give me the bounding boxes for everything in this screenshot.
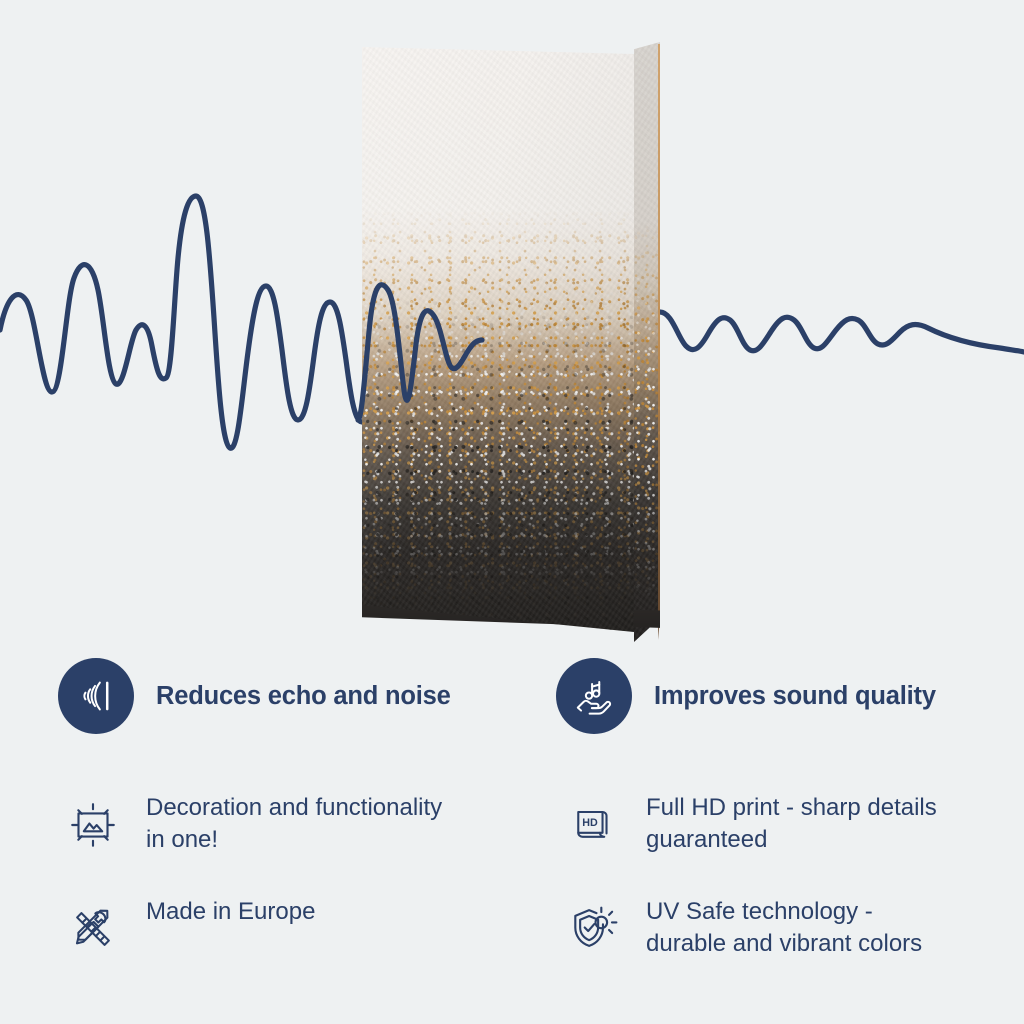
feature-label: Reduces echo and noise <box>156 681 451 712</box>
feature-reduces-echo: Reduces echo and noise <box>58 658 451 734</box>
sound-waves-wall-icon <box>58 658 134 734</box>
feature-text-line: in one! <box>146 824 442 856</box>
hand-music-note-icon <box>556 658 632 734</box>
soundwave-path-right <box>660 312 1024 352</box>
feature-full-hd-print: HD Full HD print - sharp details guarant… <box>562 792 937 856</box>
canvas-side-texture <box>634 42 660 642</box>
canvas-silver-speckle <box>362 47 634 632</box>
feature-text-line: guaranteed <box>646 824 937 856</box>
feature-label: Improves sound quality <box>654 681 936 712</box>
feature-text-line: Decoration and functionality <box>146 792 442 824</box>
framed-picture-shine-icon <box>62 794 124 856</box>
feature-text-line: durable and vibrant colors <box>646 928 922 960</box>
canvas-edge-accent-line <box>658 44 660 640</box>
canvas-sheen <box>362 47 634 632</box>
feature-uv-safe-technology: UV Safe technology - durable and vibrant… <box>562 896 922 960</box>
feature-text: Full HD print - sharp details guaranteed <box>646 792 937 855</box>
feature-decoration-functionality: Decoration and functionality in one! <box>62 792 442 856</box>
canvas-gold-speckle <box>362 47 634 632</box>
feature-made-in-europe: Made in Europe <box>62 896 315 960</box>
ruler-hammer-icon <box>62 898 124 960</box>
uv-shield-sun-icon <box>562 898 624 960</box>
feature-text-line: Made in Europe <box>146 896 315 928</box>
feature-text-line: Full HD print - sharp details <box>646 792 937 824</box>
canvas-side-silver-speckle <box>634 42 660 642</box>
feature-text: UV Safe technology - durable and vibrant… <box>646 896 922 959</box>
canvas-side-edge <box>634 42 660 642</box>
infographic-stage: Reduces echo and noise Improves s <box>0 0 1024 1024</box>
canvas-front-face <box>362 47 634 632</box>
canvas-artwork <box>362 42 662 652</box>
feature-text-line: UV Safe technology - <box>646 896 922 928</box>
feature-list: Reduces echo and noise Improves s <box>0 646 1024 1024</box>
soundwave-path-left <box>0 196 362 448</box>
canvas-texture <box>362 47 634 632</box>
feature-improves-sound: Improves sound quality <box>556 658 936 734</box>
feature-text: Decoration and functionality in one! <box>146 792 442 855</box>
feature-text: Made in Europe <box>146 896 315 928</box>
hd-print-icon: HD <box>562 794 624 856</box>
canvas-dark-speckle <box>362 47 634 632</box>
canvas-side-gold-speckle <box>634 42 660 642</box>
svg-text:HD: HD <box>582 817 598 829</box>
